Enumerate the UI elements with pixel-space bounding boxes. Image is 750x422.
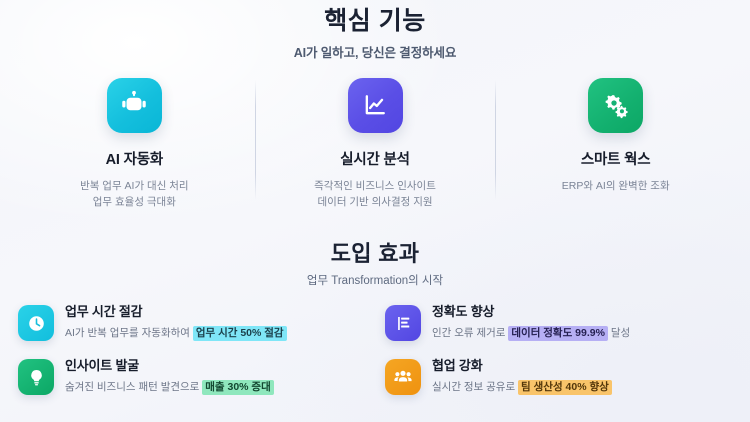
- clock-icon: [18, 305, 54, 341]
- gears-icon: [588, 78, 643, 133]
- benefit-text-block: 업무 시간 절감 AI가 반복 업무를 자동화하여 업무 시간 50% 절감: [65, 303, 287, 341]
- feature-description-line: 반복 업무 AI가 대신 처리: [22, 178, 247, 194]
- core-features-header: 핵심 기능 AI가 일하고, 당신은 결정하세요: [0, 0, 750, 61]
- benefit-text-block: 정확도 향상 인간 오류 제거로 데이터 정확도 99.9% 달성: [432, 303, 630, 341]
- benefit-item-accuracy[interactable]: 정확도 향상 인간 오류 제거로 데이터 정확도 99.9% 달성: [385, 303, 734, 341]
- feature-card-ai-automation[interactable]: AI 자동화 반복 업무 AI가 대신 처리 업무 효율성 극대화: [14, 78, 255, 211]
- benefit-desc-prefix: 실시간 정보 공유로: [432, 381, 518, 393]
- robot-icon: [107, 78, 162, 133]
- feature-description: 즉각적인 비즈니스 인사이트 데이터 기반 의사결정 지원: [263, 178, 488, 211]
- benefit-description: 실시간 정보 공유로 팀 생산성 40% 향상: [432, 380, 612, 395]
- feature-title: 실시간 분석: [263, 148, 488, 169]
- benefit-highlight: 데이터 정확도 99.9%: [508, 326, 608, 341]
- benefit-description: 숨겨진 비즈니스 패턴 발견으로 매출 30% 증대: [65, 380, 274, 395]
- benefit-highlight: 업무 시간 50% 절감: [193, 326, 287, 341]
- feature-card-smart-works[interactable]: 스마트 웍스 ERP와 AI의 완벽한 조화: [495, 78, 736, 211]
- bar-chart-icon: [385, 305, 421, 341]
- page-title: 핵심 기능: [0, 7, 750, 37]
- feature-card-realtime-analytics[interactable]: 실시간 분석 즉각적인 비즈니스 인사이트 데이터 기반 의사결정 지원: [255, 78, 496, 211]
- lightbulb-icon: [18, 359, 54, 395]
- users-icon: [385, 359, 421, 395]
- benefit-highlight: 팀 생산성 40% 향상: [518, 380, 612, 395]
- benefit-text-block: 협업 강화 실시간 정보 공유로 팀 생산성 40% 향상: [432, 357, 612, 395]
- feature-description-line: ERP와 AI의 완벽한 조화: [503, 178, 728, 194]
- benefit-desc-prefix: 인간 오류 제거로: [432, 327, 508, 339]
- benefit-desc-prefix: AI가 반복 업무를 자동화하여: [65, 327, 193, 339]
- benefit-title: 업무 시간 절감: [65, 304, 287, 320]
- benefit-desc-suffix: 달성: [608, 327, 630, 339]
- feature-description: ERP와 AI의 완벽한 조화: [503, 178, 728, 194]
- feature-title: AI 자동화: [22, 148, 247, 169]
- benefit-title: 인사이트 발굴: [65, 358, 274, 374]
- feature-description-line: 즉각적인 비즈니스 인사이트: [263, 178, 488, 194]
- feature-description: 반복 업무 AI가 대신 처리 업무 효율성 극대화: [22, 178, 247, 211]
- feature-card-list: AI 자동화 반복 업무 AI가 대신 처리 업무 효율성 극대화 실시간 분석…: [0, 78, 750, 211]
- benefit-list: 업무 시간 절감 AI가 반복 업무를 자동화하여 업무 시간 50% 절감 정…: [0, 303, 750, 395]
- benefit-desc-prefix: 숨겨진 비즈니스 패턴 발견으로: [65, 381, 202, 393]
- benefit-item-time-saving[interactable]: 업무 시간 절감 AI가 반복 업무를 자동화하여 업무 시간 50% 절감: [18, 303, 367, 341]
- benefits-title: 도입 효과: [0, 236, 750, 268]
- benefits-subtitle: 업무 Transformation의 시작: [0, 272, 750, 288]
- page-subtitle: AI가 일하고, 당신은 결정하세요: [0, 42, 750, 61]
- feature-description-line: 데이터 기반 의사결정 지원: [263, 194, 488, 210]
- line-chart-icon: [348, 78, 403, 133]
- benefit-text-block: 인사이트 발굴 숨겨진 비즈니스 패턴 발견으로 매출 30% 증대: [65, 357, 274, 395]
- benefit-description: 인간 오류 제거로 데이터 정확도 99.9% 달성: [432, 326, 630, 341]
- benefit-item-collaboration[interactable]: 협업 강화 실시간 정보 공유로 팀 생산성 40% 향상: [385, 357, 734, 395]
- benefits-header: 도입 효과 업무 Transformation의 시작: [0, 236, 750, 288]
- benefit-title: 정확도 향상: [432, 304, 630, 320]
- benefit-highlight: 매출 30% 증대: [202, 380, 274, 395]
- benefit-description: AI가 반복 업무를 자동화하여 업무 시간 50% 절감: [65, 326, 287, 341]
- feature-title: 스마트 웍스: [503, 148, 728, 169]
- benefit-item-insight[interactable]: 인사이트 발굴 숨겨진 비즈니스 패턴 발견으로 매출 30% 증대: [18, 357, 367, 395]
- feature-description-line: 업무 효율성 극대화: [22, 194, 247, 210]
- slide-root: 핵심 기능 AI가 일하고, 당신은 결정하세요 AI 자동화 반복 업무 AI…: [0, 0, 750, 422]
- benefit-title: 협업 강화: [432, 358, 612, 374]
